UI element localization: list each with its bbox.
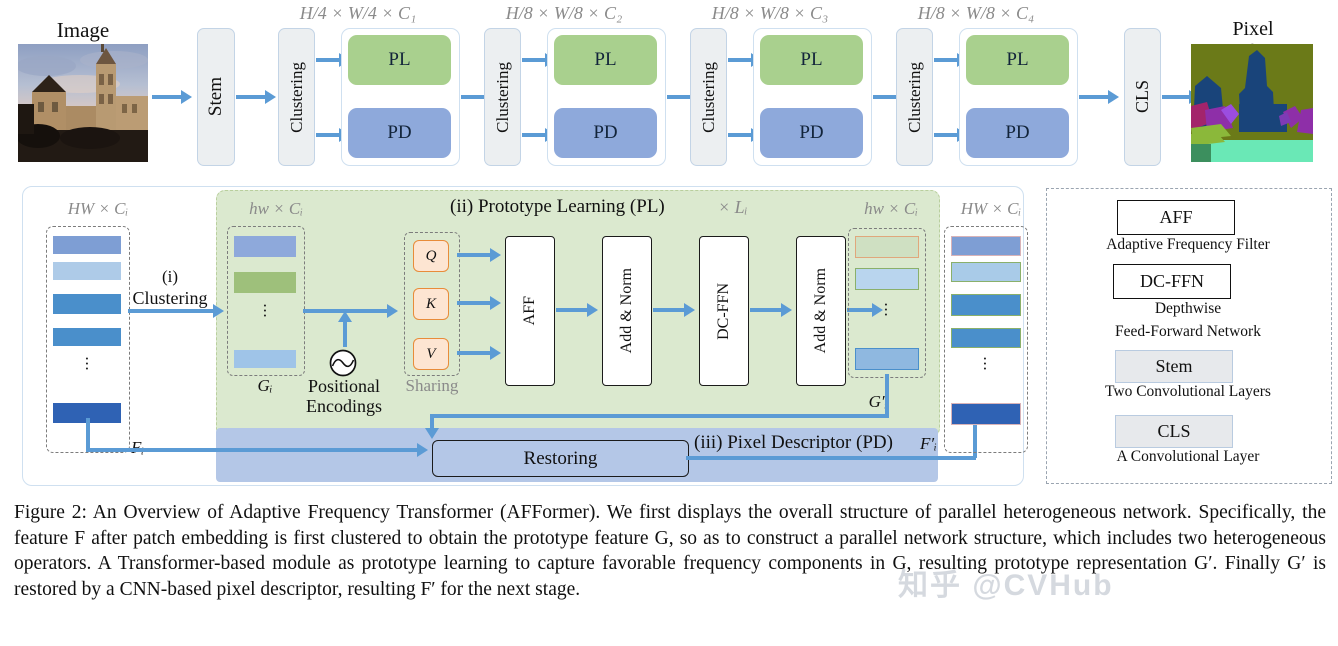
legend-aff-caption: Adaptive Frequency Filter	[1050, 236, 1326, 254]
pl-label-2: PL	[594, 49, 616, 71]
proto-dim-label: hw × Cᵢ	[221, 199, 331, 219]
legend-aff-box: AFF	[1117, 200, 1235, 235]
arrow-q-to-aff	[457, 248, 505, 262]
arrow-v-to-aff	[457, 346, 505, 360]
pd-label-3: PD	[799, 122, 823, 144]
prototype-bar	[234, 350, 296, 368]
q-label: Q	[426, 248, 437, 265]
stem-block[interactable]: Stem	[197, 28, 235, 166]
legend-cls-caption: A Convolutional Layer	[1050, 448, 1326, 466]
positional-encodings-label-1: Positional	[296, 376, 392, 397]
figure-caption-prefix: Figure 2:	[14, 502, 87, 523]
output-dim-label: HW × Cᵢ	[936, 199, 1046, 219]
legend-aff-label: AFF	[1159, 207, 1192, 228]
arrow-clustering	[128, 304, 228, 318]
prototype-bar	[234, 272, 296, 293]
clustering-label-4: Clustering	[905, 62, 925, 133]
feature-bar	[53, 328, 121, 346]
output-feature-bar	[951, 236, 1021, 256]
cls-block[interactable]: CLS	[1124, 28, 1161, 166]
pl-label-1: PL	[388, 49, 410, 71]
path-Gprime-to-restoring	[430, 374, 890, 440]
segmentation-map-svg	[1191, 44, 1313, 162]
clustering-block-3[interactable]: Clustering	[690, 28, 727, 166]
add-norm-block-1[interactable]: Add & Norm	[602, 236, 652, 386]
arrow-Gi-to-qkv	[303, 304, 403, 318]
stem-label: Stem	[205, 77, 227, 116]
stage-dim-3: H/8 × W/8 × C₃	[670, 3, 870, 24]
output-feature-bar	[951, 294, 1021, 316]
figure-caption-text: An Overview of Adaptive Frequency Transf…	[14, 502, 1326, 600]
var-F-prime-label: F′ᵢ	[920, 434, 937, 454]
pl-label-4: PL	[1006, 49, 1028, 71]
legend-stem-box: Stem	[1115, 350, 1233, 383]
prototype-out-bar	[855, 348, 919, 370]
arrow-stem-to-stage1	[236, 90, 278, 104]
legend-dcffn-box: DC-FFN	[1113, 264, 1231, 299]
image-label: Image	[18, 18, 148, 43]
pd-block-2[interactable]: PD	[554, 108, 657, 158]
legend-stem-label: Stem	[1155, 356, 1192, 377]
input-photo-svg	[18, 44, 148, 162]
stage-dim-1: H/4 × W/4 × C₁	[258, 3, 458, 24]
pl-panel-title: (ii) Prototype Learning (PL)	[450, 196, 665, 218]
step-i-index: (i)	[130, 267, 210, 287]
aff-block[interactable]: AFF	[505, 236, 555, 386]
pd-block-1[interactable]: PD	[348, 108, 451, 158]
figure-caption: Figure 2: An Overview of Adaptive Freque…	[14, 500, 1326, 602]
clustering-block-4[interactable]: Clustering	[896, 28, 933, 166]
v-box[interactable]: V	[413, 338, 449, 370]
feature-ellipsis: ···	[53, 356, 121, 386]
output-feature-bar	[951, 328, 1021, 348]
add-norm-label-2: Add & Norm	[812, 268, 830, 353]
var-G-label: Gᵢ	[227, 376, 303, 396]
clustering-block-1[interactable]: Clustering	[278, 28, 315, 166]
aff-label: AFF	[521, 296, 539, 325]
output-feature-ellipsis: ···	[951, 356, 1019, 386]
prototype-out-bar	[855, 268, 919, 290]
pd-label-4: PD	[1005, 122, 1029, 144]
add-norm-block-2[interactable]: Add & Norm	[796, 236, 846, 386]
k-box[interactable]: K	[413, 288, 449, 320]
positional-encodings-label-2: Encodings	[290, 396, 398, 417]
prototype-out-ellipsis: ···	[855, 302, 917, 332]
pl-block-1[interactable]: PL	[348, 35, 451, 85]
clustering-label-2: Clustering	[493, 62, 513, 133]
pl-repeat-label: × Lᵢ	[718, 197, 748, 218]
arrow-dcffn-to-addnorm2	[750, 303, 796, 317]
prototype-ellipsis: ···	[234, 303, 296, 333]
pd-block-4[interactable]: PD	[966, 108, 1069, 158]
path-Fi-to-restoring	[86, 418, 436, 462]
prototype-bar	[234, 236, 296, 257]
output-feature-bar	[951, 262, 1021, 282]
pd-block-3[interactable]: PD	[760, 108, 863, 158]
clustering-label-1: Clustering	[287, 62, 307, 133]
add-norm-label-1: Add & Norm	[618, 268, 636, 353]
legend-dcffn-caption-1: Depthwise	[1050, 300, 1326, 318]
proto-out-dim-label: hw × Cᵢ	[836, 199, 946, 219]
arrow-stage4-to-cls	[1079, 90, 1121, 104]
restoring-block[interactable]: Restoring	[432, 440, 689, 477]
v-label: V	[426, 346, 435, 363]
pl-label-3: PL	[800, 49, 822, 71]
legend-dcffn-caption-2: Feed-Forward Network	[1050, 323, 1326, 341]
input-image-thumbnail	[18, 44, 148, 162]
sine-wave-circle-icon	[328, 348, 358, 378]
q-box[interactable]: Q	[413, 240, 449, 272]
stage-dim-4: H/8 × W/8 × C₄	[876, 3, 1076, 24]
arrow-k-to-aff	[457, 296, 505, 310]
dc-ffn-block[interactable]: DC-FFN	[699, 236, 749, 386]
pl-block-2[interactable]: PL	[554, 35, 657, 85]
clustering-label-3: Clustering	[699, 62, 719, 133]
restoring-label: Restoring	[524, 448, 598, 470]
arrow-aff-to-addnorm1	[556, 303, 602, 317]
pd-label-1: PD	[387, 122, 411, 144]
arrow-positional-up	[338, 311, 352, 347]
legend-cls-label: CLS	[1157, 421, 1190, 442]
arrow-image-to-stem	[152, 90, 194, 104]
cls-label: CLS	[1132, 80, 1153, 113]
dc-ffn-label: DC-FFN	[715, 283, 733, 340]
k-label: K	[426, 296, 436, 313]
pl-block-4[interactable]: PL	[966, 35, 1069, 85]
legend-cls-box: CLS	[1115, 415, 1233, 448]
feature-bar	[53, 262, 121, 280]
legend-dcffn-label: DC-FFN	[1140, 271, 1204, 292]
legend-stem-caption: Two Convolutional Layers	[1050, 383, 1326, 401]
input-dim-label: HW × Cᵢ	[38, 199, 158, 219]
path-restoring-to-Fprime	[686, 450, 986, 504]
feature-bar	[53, 294, 121, 314]
feature-bar	[53, 236, 121, 254]
output-feature-bar	[951, 403, 1021, 425]
arrow-addnorm1-to-dcffn	[653, 303, 699, 317]
prototype-out-bar	[855, 236, 919, 258]
stage-dim-2: H/8 × W/8 × C₂	[464, 3, 664, 24]
pd-label-2: PD	[593, 122, 617, 144]
pl-block-3[interactable]: PL	[760, 35, 863, 85]
clustering-block-2[interactable]: Clustering	[484, 28, 521, 166]
output-segmentation-thumbnail	[1191, 44, 1313, 162]
